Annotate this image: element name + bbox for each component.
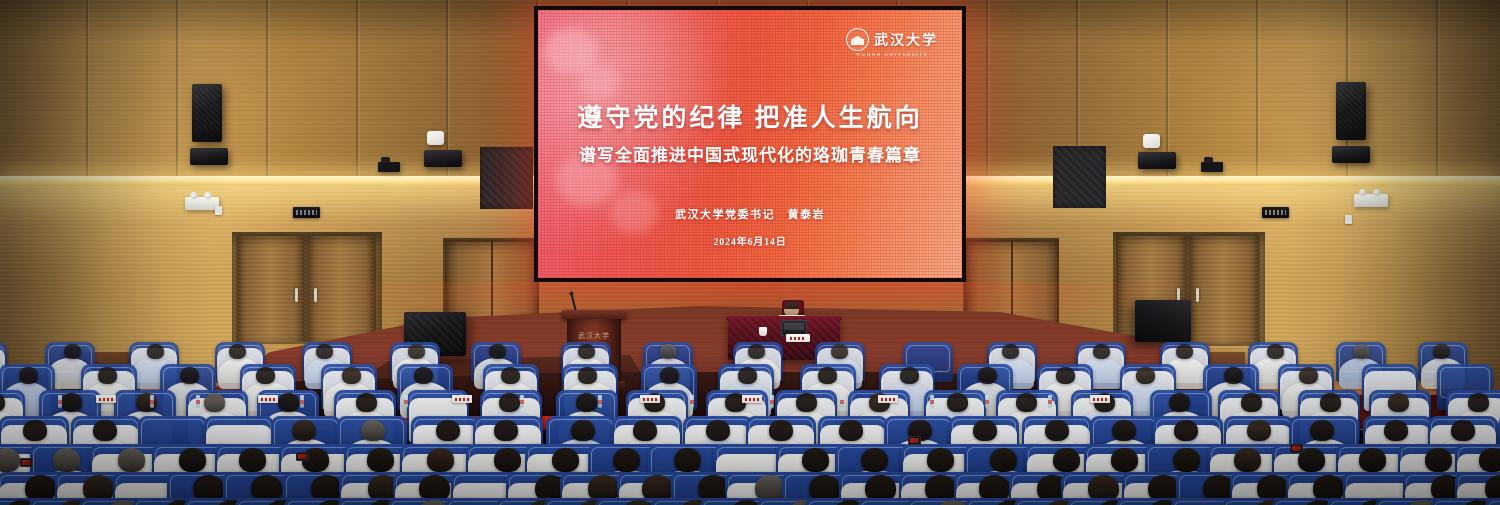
audience-member-head bbox=[660, 367, 679, 384]
exit-sign-left bbox=[293, 207, 320, 218]
acoustic-panel-left bbox=[480, 147, 533, 209]
audience-member-head bbox=[118, 448, 145, 472]
audience-member-head bbox=[494, 448, 521, 472]
water-bottle bbox=[598, 395, 602, 408]
university-name-cn: 武汉大学 bbox=[874, 30, 938, 50]
name-placard bbox=[640, 395, 660, 403]
name-placard bbox=[96, 395, 116, 403]
audience-member-head bbox=[1310, 420, 1334, 441]
water-bottle bbox=[58, 395, 62, 408]
audience-member-head bbox=[1241, 393, 1262, 412]
led-screen-display: 武汉大学 WUHAN UNIVERSITY 遵守党的纪律 把准人生航向 谱写全面… bbox=[538, 10, 962, 278]
audience-member-head bbox=[660, 344, 677, 359]
audience-member-head bbox=[674, 448, 701, 472]
audience-member-head bbox=[292, 420, 316, 441]
audience-member-head bbox=[818, 367, 837, 384]
audience-member-head bbox=[613, 448, 640, 472]
water-bottle bbox=[690, 395, 694, 408]
acoustic-panel-right bbox=[1053, 146, 1106, 208]
audience-member-head bbox=[427, 448, 454, 472]
audience-member-head bbox=[947, 393, 968, 412]
audience-member-head bbox=[316, 344, 333, 359]
audience-member-head bbox=[1353, 344, 1370, 359]
subwoofer-stage-right bbox=[1135, 300, 1191, 342]
audience-member-head bbox=[1111, 448, 1138, 472]
audience-member-head bbox=[1384, 420, 1408, 441]
audience-member-head bbox=[1112, 420, 1136, 441]
name-placard bbox=[742, 395, 762, 403]
audience-member-head bbox=[1425, 448, 1452, 472]
audience-member-head bbox=[61, 393, 82, 412]
audience-member-head bbox=[1053, 448, 1080, 472]
audience-member-head bbox=[0, 448, 20, 472]
audience-member-head bbox=[1433, 344, 1450, 359]
audience-member-head bbox=[1267, 344, 1284, 359]
name-placard bbox=[1090, 395, 1110, 403]
audience-member-head bbox=[1320, 393, 1341, 412]
audience-member-head bbox=[256, 367, 275, 384]
slide-subtitle: 谱写全面推进中国式现代化的珞珈青春篇章 bbox=[538, 141, 962, 166]
audience-member-head bbox=[367, 448, 394, 472]
audience-member-head bbox=[861, 448, 888, 472]
water-bottle bbox=[520, 395, 524, 408]
audience-member-head bbox=[147, 344, 164, 359]
audience-member-head bbox=[356, 393, 377, 412]
audience-member-head bbox=[1299, 367, 1318, 384]
audience-member-head bbox=[633, 420, 657, 441]
audience-member-head bbox=[19, 367, 38, 384]
audience-member-head bbox=[1056, 367, 1075, 384]
audience-member-head bbox=[796, 393, 817, 412]
slide-date: 2024年6月14日 bbox=[538, 233, 962, 248]
audience-member-head bbox=[1169, 393, 1190, 412]
name-placard bbox=[258, 395, 278, 403]
audience-member-head bbox=[408, 344, 425, 359]
water-bottle bbox=[300, 395, 304, 408]
wall-box-right bbox=[1143, 134, 1160, 148]
audience-member-head bbox=[769, 420, 793, 441]
door-handle-icon bbox=[295, 288, 298, 302]
door-handle-icon bbox=[1196, 288, 1199, 302]
name-placard bbox=[452, 395, 472, 403]
audience-member-head bbox=[494, 420, 518, 441]
blossom-texture bbox=[580, 64, 620, 100]
audience-member-head bbox=[98, 367, 117, 384]
wall-box-left bbox=[427, 131, 444, 145]
audience-member-head bbox=[179, 448, 206, 472]
audience-member-head bbox=[1224, 367, 1243, 384]
audience-member-head bbox=[748, 344, 765, 359]
door-left[interactable] bbox=[308, 236, 374, 342]
audience-member-head bbox=[978, 367, 997, 384]
audience-member-head bbox=[1234, 448, 1261, 472]
water-bottle bbox=[930, 395, 934, 408]
audience-member-head bbox=[229, 344, 246, 359]
audience-seating bbox=[0, 340, 1500, 505]
loudspeaker-aux-left bbox=[424, 150, 462, 167]
audience-member-head bbox=[1176, 344, 1193, 359]
audience-member-head bbox=[501, 367, 520, 384]
audience-member-head bbox=[552, 448, 579, 472]
audience-member-head bbox=[576, 393, 597, 412]
audience-member-head bbox=[738, 367, 757, 384]
audience-member-head bbox=[93, 420, 117, 441]
audience-member-head bbox=[831, 344, 848, 359]
audience-member-head bbox=[1173, 448, 1200, 472]
audience-member-head bbox=[204, 393, 225, 412]
water-bottle bbox=[770, 395, 774, 408]
audience-member-head bbox=[180, 367, 199, 384]
audience-member-head bbox=[1093, 344, 1110, 359]
smartphone-recording bbox=[296, 452, 309, 461]
audience-member-head bbox=[990, 448, 1017, 472]
slide-title: 遵守党的纪律 把准人生航向 bbox=[538, 98, 962, 134]
podium-top bbox=[562, 310, 626, 319]
smartphone-recording bbox=[1290, 444, 1303, 453]
audience-member-head bbox=[1016, 393, 1037, 412]
audience-member-head bbox=[802, 448, 829, 472]
water-bottle bbox=[1048, 395, 1052, 408]
audience-member-head bbox=[1479, 448, 1500, 472]
water-bottle bbox=[196, 395, 200, 408]
door-handle-icon bbox=[314, 288, 317, 302]
audience-member-head bbox=[578, 367, 597, 384]
water-bottle bbox=[404, 395, 408, 408]
cup-icon bbox=[759, 327, 767, 336]
audience-member-head bbox=[239, 448, 266, 472]
audience-member-head bbox=[1359, 448, 1386, 472]
university-logo: 武汉大学 WUHAN UNIVERSITY bbox=[846, 28, 938, 58]
university-seal-icon bbox=[846, 28, 869, 51]
audience-member-head bbox=[1045, 420, 1069, 441]
audience-member-head bbox=[64, 344, 81, 359]
name-placard bbox=[878, 395, 898, 403]
audience-member-head bbox=[927, 448, 954, 472]
audience-member-head bbox=[1468, 393, 1489, 412]
smartphone-recording bbox=[908, 436, 921, 445]
slide-speaker: 武汉大学党委书记 黄泰岩 bbox=[538, 206, 962, 222]
audience-member-head bbox=[342, 367, 361, 384]
audience-member-head bbox=[839, 420, 863, 441]
slide-text-block: 遵守党的纪律 把准人生航向 谱写全面推进中国式现代化的珞珈青春篇章 武汉大学党委… bbox=[538, 98, 962, 248]
audience-member-head bbox=[414, 367, 433, 384]
led-screen-frame: 武汉大学 WUHAN UNIVERSITY 遵守党的纪律 把准人生航向 谱写全面… bbox=[534, 6, 966, 282]
audience-member-head bbox=[361, 420, 385, 441]
water-bottle bbox=[150, 395, 154, 408]
audience-member-head bbox=[571, 420, 595, 441]
door-far-left[interactable] bbox=[238, 236, 304, 342]
audience-member-head bbox=[1247, 420, 1271, 441]
audience-member-head bbox=[489, 344, 506, 359]
audience-member-head bbox=[136, 393, 157, 412]
door-far-right[interactable] bbox=[1190, 236, 1258, 344]
university-name-en: WUHAN UNIVERSITY bbox=[856, 53, 929, 58]
loudspeaker-aux-right bbox=[1138, 152, 1176, 169]
audience-member-head bbox=[53, 448, 80, 472]
water-bottle bbox=[840, 395, 844, 408]
audience-member-head bbox=[436, 420, 460, 441]
audience-member-head bbox=[278, 393, 299, 412]
audience-member-head bbox=[706, 420, 730, 441]
audience-member-head bbox=[499, 393, 520, 412]
audience-member-head bbox=[1002, 344, 1019, 359]
audience-member-head bbox=[1136, 367, 1155, 384]
camera-mount-right bbox=[1201, 162, 1223, 172]
smartphone-recording bbox=[20, 458, 33, 467]
camera-mount-left bbox=[378, 162, 400, 172]
audience-member-head bbox=[578, 344, 595, 359]
auditorium-scene: 武汉大学 WUHAN UNIVERSITY 遵守党的纪律 把准人生航向 谱写全面… bbox=[0, 0, 1500, 505]
audience-member-head bbox=[1174, 420, 1198, 441]
audience-member-head bbox=[23, 420, 47, 441]
audience-member-head bbox=[1388, 393, 1409, 412]
water-bottle bbox=[985, 395, 989, 408]
audience-member-head bbox=[1451, 420, 1475, 441]
audience-member-head bbox=[900, 367, 919, 384]
audience-member-head bbox=[973, 420, 997, 441]
